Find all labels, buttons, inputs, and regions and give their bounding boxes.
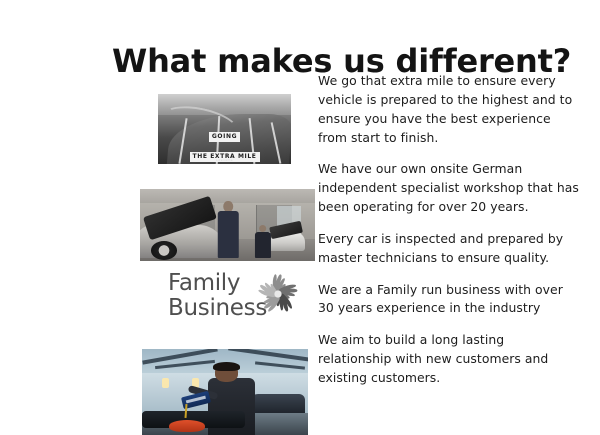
mechanic-body xyxy=(218,211,238,258)
body-paragraph: We have our own onsite German independen… xyxy=(318,160,580,217)
oil-change-lamp xyxy=(162,378,169,388)
technician-hair xyxy=(213,362,240,371)
body-paragraph: We go that extra mile to ensure every ve… xyxy=(318,72,580,147)
oil-bottle-label xyxy=(186,395,206,403)
workshop-mechanic xyxy=(254,225,272,258)
extra-mile-credit: sitename xyxy=(216,158,233,162)
body-copy: We go that extra mile to ensure every ve… xyxy=(318,72,580,388)
workshop-car-wheel xyxy=(151,241,177,260)
hands-pinwheel-icon xyxy=(250,268,306,320)
body-paragraph: We are a Family run business with over 3… xyxy=(318,281,580,319)
mechanic-body xyxy=(254,232,270,258)
image-going-the-extra-mile: GOING THE EXTRA MILE sitename xyxy=(158,94,291,164)
workshop-mechanic xyxy=(217,201,240,259)
body-paragraph: We aim to build a long lasting relations… xyxy=(318,331,580,388)
media-column: GOING THE EXTRA MILE sitename Family Bus… xyxy=(0,0,300,419)
image-oil-change-technician xyxy=(142,349,308,435)
body-paragraph: Every car is inspected and prepared by m… xyxy=(318,230,580,268)
image-specialist-workshop xyxy=(140,189,315,261)
logo-family-business: Family Business xyxy=(168,269,308,327)
oil-funnel xyxy=(169,420,206,432)
family-business-line-1: Family xyxy=(168,270,240,296)
extra-mile-overlay-line-1: GOING xyxy=(209,132,240,142)
